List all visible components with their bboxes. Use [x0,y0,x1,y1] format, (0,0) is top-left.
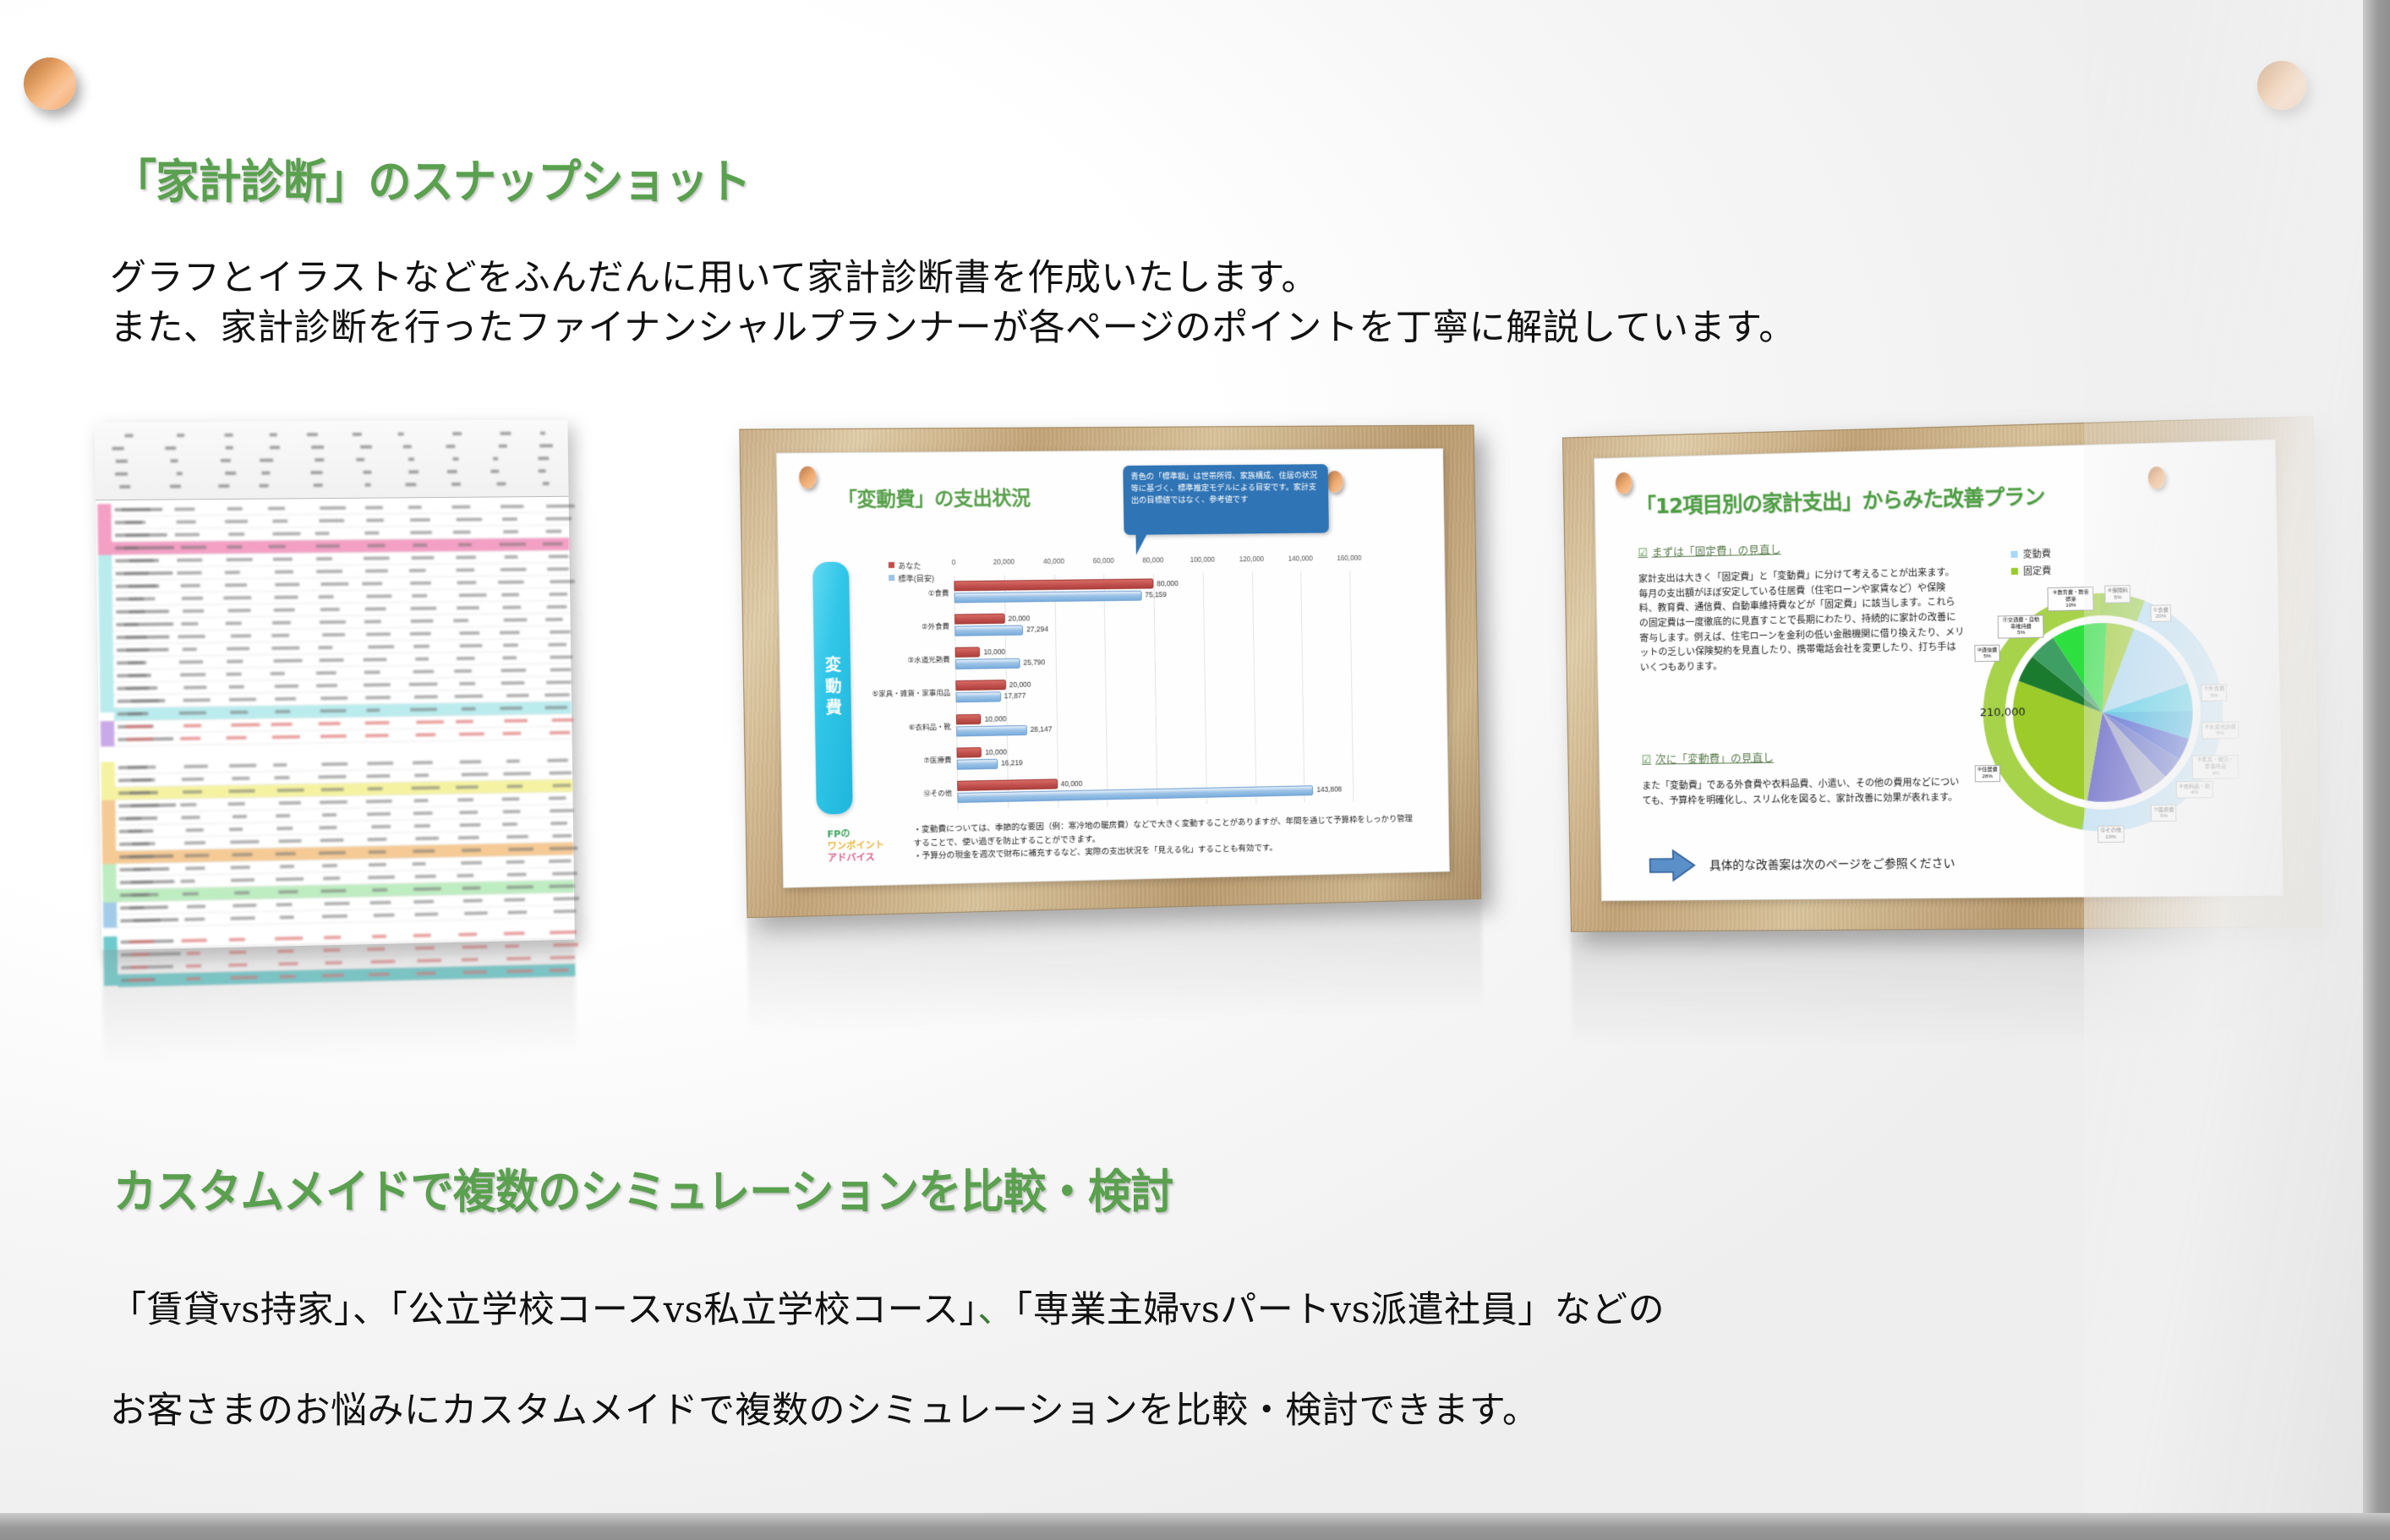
cell-value-glyph [506,860,524,864]
cell-value-glyph [129,559,154,562]
category-label: ②外食費 [851,621,954,633]
pie-label-name: ⑫その他 [2100,827,2121,834]
legend-item: 標準(目安) [889,573,934,587]
cell-value-glyph [129,829,143,833]
cell-value-glyph [416,720,444,724]
cell-value-glyph [321,762,347,767]
cell-value-glyph [276,903,293,906]
bar-group: ⑫その他40,000143,808 [957,768,1353,810]
cell-value-glyph [183,724,202,727]
cell-value-glyph [182,892,199,895]
cell-value-glyph [508,848,533,852]
header-glyph [165,446,176,450]
cell-value-glyph [129,584,156,587]
cell-value-glyph [129,940,155,944]
cell-value-glyph [456,555,476,559]
pie-label-pct: 4% [2179,789,2210,796]
cell-value-glyph [125,724,151,729]
cell-value-glyph [550,593,568,596]
cell-value-glyph [373,888,388,892]
cell-value-glyph [126,686,149,690]
cell-value-glyph [323,876,339,880]
pie-label-pct: 28% [1977,773,1998,780]
bar [957,779,1058,791]
cell-value-glyph [368,645,394,648]
cell-value-glyph [502,656,517,659]
cell-value-glyph [506,694,529,697]
cell-value-glyph [181,584,200,587]
header-glyph [178,434,184,437]
cell-value-glyph [549,554,569,558]
cell-value-glyph [367,812,390,816]
cell-value-glyph [460,644,482,647]
cell-value-glyph [278,890,298,893]
cell-value-glyph [276,877,304,882]
cell-value-glyph [230,840,259,844]
cell-value-glyph [225,583,247,587]
cell-value-glyph [122,508,150,511]
header-glyph [260,484,269,488]
cell-value-glyph [179,660,204,664]
cell-value-glyph [500,505,524,508]
cell-value-glyph [324,902,349,906]
cell-value-glyph [504,555,517,559]
cell-value-glyph [319,595,334,598]
chart-legend: あなた標準(目安) [889,560,934,586]
cell-value-glyph [546,680,572,684]
cell-value-glyph [183,685,207,689]
cell-value-glyph [410,582,431,585]
cell-value-glyph [368,762,393,765]
cell-value-glyph [271,634,289,637]
cell-value-glyph [126,816,141,820]
header-glyph [314,483,323,487]
header-glyph [119,485,129,489]
cell-value-glyph [368,838,386,841]
cell-value-glyph [502,517,517,521]
cell-value-glyph [409,682,437,685]
row-group-tab [101,762,115,800]
cell-value-glyph [274,659,303,663]
pie-data-label: ⑨住居費28% [1975,765,2001,783]
cell-value-glyph [550,731,571,735]
header-glyph [446,445,455,448]
cell-value-glyph [503,810,521,813]
cell-value-glyph [321,582,349,586]
pie-data-label: ⑫その他10% [2097,825,2125,843]
cell-value-glyph [413,887,441,891]
cell-value-glyph [366,518,384,522]
header-glyph [311,471,323,474]
page-edge-right [2363,0,2390,1540]
cell-value-glyph [232,853,253,856]
pushpin-icon-right [2257,61,2306,110]
cell-value-glyph [463,970,487,975]
cell-value-glyph [183,790,202,794]
cell-value-glyph [462,849,480,852]
cell-value-glyph [413,669,435,673]
header-glyph [225,446,232,450]
cell-value-glyph [229,937,245,941]
cell-value-glyph [457,798,473,801]
cell-value-glyph [228,685,244,689]
cell-value-glyph [500,568,527,571]
row-group-tab [101,800,116,865]
cell-value-glyph [462,773,489,777]
cell-value-glyph [455,695,484,698]
cell-value-glyph [129,855,154,859]
slide-canvas: 「12項目別の家計支出」からみた改善プラン ☑まずは「固定費」の見直し 家計支出… [1594,440,2283,901]
cell-value-glyph [413,900,435,904]
cell-value-glyph [177,571,201,575]
cell-value-glyph [234,891,250,894]
cell-value-glyph [278,962,298,966]
pie-label-pct: 5% [2001,630,2042,637]
category-label: ⑫その他 [854,788,957,800]
cell-value-glyph [133,918,160,922]
cell-value-glyph [547,758,567,762]
pie-total-label: 210,000 [1980,706,2026,719]
cell-value-glyph [233,904,257,908]
x-tick-label: 40,000 [1043,558,1064,565]
cell-value-glyph [506,885,533,889]
cell-value-glyph [413,811,433,815]
cell-value-glyph [276,827,293,830]
cell-value-glyph [229,532,245,536]
cell-value-glyph [177,559,202,562]
header-glyph [452,432,462,435]
pie-chart: ①食費20%②外食費5%③水道光熱費5%⑤家具・雑貨・家事用品4%⑥衣料品・靴4… [1972,560,2261,863]
value-label: 25,790 [1023,658,1045,666]
cell-value-glyph [369,973,390,977]
cell-value-glyph [504,719,528,723]
cell-value-glyph [179,711,206,714]
cell-value-glyph [275,710,290,713]
pie-label-name: ④保険料 [2108,587,2129,594]
cell-value-glyph [553,909,576,914]
header-glyph [540,432,546,435]
page-edge-bottom [0,1513,2390,1540]
cell-value-glyph [459,631,479,635]
cell-value-glyph [550,631,571,634]
header-glyph [360,445,372,449]
cell-value-glyph [180,879,195,882]
pie-data-label: ④保険料5% [2104,585,2130,603]
cell-value-glyph [129,978,153,982]
cell-value-glyph [128,766,156,770]
cell-value-glyph [124,571,149,575]
slide2-callout: 青色の「標準額」は世帯所得、家族構成、住居の状況等に基づく、標準推定モデルによる… [1123,464,1329,535]
cell-value-glyph [182,597,203,600]
header-glyph [116,460,128,463]
pie-data-label: ⑦医療費5% [2151,805,2177,822]
cell-value-glyph [546,530,562,533]
cell-value-glyph [543,542,563,545]
cell-value-glyph [414,695,438,698]
cell-value-glyph [368,850,386,854]
header-glyph [540,444,554,447]
cell-value-glyph [458,836,479,839]
cell-value-glyph [365,734,389,737]
header-glyph [170,484,182,488]
cell-value-glyph [503,772,530,776]
cell-value-glyph [454,619,469,622]
cell-value-glyph [410,518,431,522]
cell-value-glyph [461,861,482,865]
cell-value-glyph [320,506,346,510]
cell-value-glyph [319,658,344,662]
cell-value-glyph [182,778,204,781]
cell-value-glyph [505,944,519,947]
cell-value-glyph [411,607,437,610]
chart-x-axis: 020,00040,00060,00080,000100,000120,0001… [954,554,1349,571]
pie-label-pct: 5% [2108,594,2129,601]
cell-value-glyph [457,581,477,584]
cell-value-glyph [457,606,480,609]
cell-value-glyph [322,633,345,636]
cell-value-glyph [458,543,472,546]
cell-value-glyph [373,914,394,918]
cell-value-glyph [455,669,472,673]
cell-value-glyph [501,681,524,685]
pie-data-label: ③水道光熱費5% [2201,722,2239,740]
cell-value-glyph [366,708,380,712]
cell-value-glyph [411,786,440,790]
cell-value-glyph [225,571,241,574]
value-label: 20,000 [1008,614,1030,622]
header-glyph [397,433,403,436]
cell-value-glyph [319,722,341,725]
value-label: 40,000 [1061,779,1083,789]
cell-value-glyph [506,759,520,762]
cell-value-glyph [413,934,431,937]
cell-value-glyph [271,723,293,726]
cell-value-glyph [545,693,571,696]
cell-value-glyph [320,735,347,738]
cell-value-glyph [227,647,250,650]
value-label: 10,000 [985,714,1007,724]
checkbox-icon: ☑ [1638,547,1648,560]
cell-value-glyph [227,802,245,805]
row-group-tab [103,902,118,928]
cell-value-glyph [320,696,347,700]
pie-label-name: ⑦医療費 [2153,806,2174,813]
pushpin-icon [799,467,817,489]
section-2-line-2: お客さまのお悩みにカスタムメイドで複数のシミュレーションを比較・検討できます。 [110,1386,1665,1436]
cell-value-glyph [409,569,426,572]
thumbnail-spreadsheet[interactable] [95,419,575,950]
cell-value-glyph [321,788,344,791]
pushpin-icon [1326,471,1343,493]
cell-value-glyph [225,520,248,523]
pie-label-pct: 5% [2204,692,2225,699]
cell-value-glyph [412,594,428,598]
cell-value-glyph [279,915,293,919]
pie-data-label: ⑧教育費・教養娯楽10% [2048,587,2094,611]
pie-data-label: ⑤家具・雑貨・家事用品4% [2192,755,2240,779]
header-glyph [307,433,318,436]
cell-value-glyph [507,835,528,838]
section-2-line1-c: 「専業主婦vsパートvs派遣社員」などの [1015,1289,1665,1331]
cell-value-glyph [276,582,299,586]
slide3-cta[interactable]: 具体的な改善案は次のページをご参照ください [1648,846,1955,882]
header-glyph [269,433,276,436]
cell-value-glyph [550,809,573,812]
cell-value-glyph [279,801,301,805]
bar [954,590,1142,603]
cell-value-glyph [456,517,482,521]
cell-value-glyph [417,958,441,963]
cell-value-glyph [363,556,390,560]
header-glyph [260,458,273,461]
cell-value-glyph [131,804,160,808]
cell-value-glyph [128,661,147,664]
cell-value-glyph [129,791,150,795]
cell-value-glyph [462,945,488,949]
bar [955,680,1006,691]
cell-value-glyph [550,668,572,671]
cell-value-glyph [131,880,153,884]
cell-value-glyph [186,866,205,870]
cell-value-glyph [458,593,486,597]
cell-value-glyph [178,635,205,638]
cell-value-glyph [229,764,256,768]
x-tick-label: 20,000 [993,558,1015,565]
cell-value-glyph [550,655,572,658]
cell-value-glyph [181,816,200,819]
pushpin-icon [1616,472,1633,494]
cell-value-glyph [228,609,251,612]
section-2-line1-a: 「賃貸vs持家」、「公立学校コースvs私立学校コース」 [110,1289,977,1331]
cell-value-glyph [370,901,391,905]
thumbnail-variable-cost-slide[interactable]: 「変動費」の支出状況 青色の「標準額」は世帯所得、家族構成、住居の状況等に基づく… [739,425,1481,919]
cell-value-glyph [229,950,246,953]
bar [955,692,1000,703]
right-arrow-icon [1648,849,1696,882]
cell-value-glyph [278,839,301,844]
checkbox-icon: ☑ [1642,754,1652,767]
cell-value-glyph [503,643,518,647]
cell-value-glyph [552,784,571,787]
cell-value-glyph [275,937,304,941]
cell-value-glyph [181,545,206,549]
bar [955,647,981,658]
cell-value-glyph [174,507,194,511]
cell-value-glyph [370,959,395,964]
cell-value-glyph [184,841,205,844]
fp-advice-note: ・変動費については、季節的な要因（例：寒冷地の暖房費）などで大きく変動することが… [913,812,1418,863]
cell-value-glyph [459,932,477,936]
cell-value-glyph [501,593,518,597]
cell-value-glyph [552,871,577,876]
header-glyph [408,470,418,473]
cell-value-glyph [131,893,158,897]
section-1-paragraph: グラフとイラストなどをふんだんに用いて家計診断書を作成いたします。 また、家計診… [110,254,1796,354]
cell-value-glyph [321,974,344,978]
cell-value-glyph [278,949,294,953]
cell-value-glyph [460,823,480,827]
cell-value-glyph [411,620,434,623]
cell-value-glyph [126,648,149,652]
header-glyph [499,445,507,448]
cell-value-glyph [456,785,479,789]
cell-value-glyph [364,683,391,686]
cell-value-glyph [129,597,156,600]
cell-value-glyph [128,674,147,677]
reflection [1571,927,2325,1090]
cell-value-glyph [504,898,525,902]
thumbnail-improvement-plan-slide[interactable]: 「12項目別の家計支出」からみた改善プラン ☑まずは「固定費」の見直し 家計支出… [1562,416,2322,932]
header-glyph [408,457,414,461]
cell-value-glyph [316,544,341,548]
section-2-line-1: 「賃貸vs持家」、「公立学校コースvs私立学校コース」、「専業主婦vsパートvs… [110,1286,1665,1335]
cell-value-glyph [362,582,382,585]
cell-value-glyph [415,658,429,661]
cell-value-glyph [499,543,526,546]
cell-value-glyph [226,621,242,625]
cell-value-glyph [461,958,478,961]
cell-value-glyph [229,963,248,967]
cell-value-glyph [410,531,432,534]
cell-value-glyph [227,507,243,511]
cell-value-glyph [412,862,425,866]
value-label: 20,000 [1009,680,1031,689]
cell-value-glyph [553,834,572,838]
cell-value-glyph [231,975,258,980]
cell-value-glyph [549,771,572,774]
cell-value-glyph [413,799,428,802]
value-label: 27,294 [1026,625,1048,633]
cell-value-glyph [413,761,432,764]
cell-value-glyph [368,947,386,951]
pushpin-icon [2148,467,2166,489]
bar [957,759,998,770]
cell-value-glyph [503,732,521,735]
header-glyph [177,472,183,475]
cell-value-glyph [134,867,150,871]
section-2-heading: カスタムメイドで複数のシミュレーションを比較・検討 [113,1154,1173,1221]
cell-value-glyph [186,964,201,968]
slide3-body-2: また「変動費」である外食費や衣料品費、小遣い、その他の費用などについても、予算枠… [1642,775,1967,809]
header-glyph [170,459,178,462]
slide3-sub2-text: 次に「変動費」の見直し [1655,752,1774,767]
cell-value-glyph [319,826,337,829]
cell-value-glyph [229,697,257,701]
cell-value-glyph [365,607,386,610]
cell-value-glyph [227,545,243,549]
cell-value-glyph [271,672,285,675]
legend-item: あなた [889,560,934,573]
cell-value-glyph [316,671,336,674]
value-label: 28,147 [1030,724,1052,733]
cell-value-glyph [460,682,475,685]
cell-value-glyph [318,646,332,649]
slide3-sub1-text: まずは「固定費」の見直し [1652,543,1781,559]
slide-canvas: 「変動費」の支出状況 青色の「標準額」は世帯所得、家族構成、住居の状況等に基づく… [776,448,1450,887]
cell-value-glyph [416,733,435,736]
cell-value-glyph [369,863,386,866]
cell-value-glyph [416,946,435,949]
cell-value-glyph [186,828,204,832]
row-group-tab [102,864,117,903]
pie-label-name: ⑪交通費・自動車維持費 [2000,617,2042,631]
spreadsheet-image [95,419,575,950]
cell-value-glyph [553,943,578,947]
x-tick-label: 0 [952,559,956,566]
header-glyph [262,472,270,475]
cell-value-glyph [457,874,473,877]
cell-value-glyph [371,825,391,828]
